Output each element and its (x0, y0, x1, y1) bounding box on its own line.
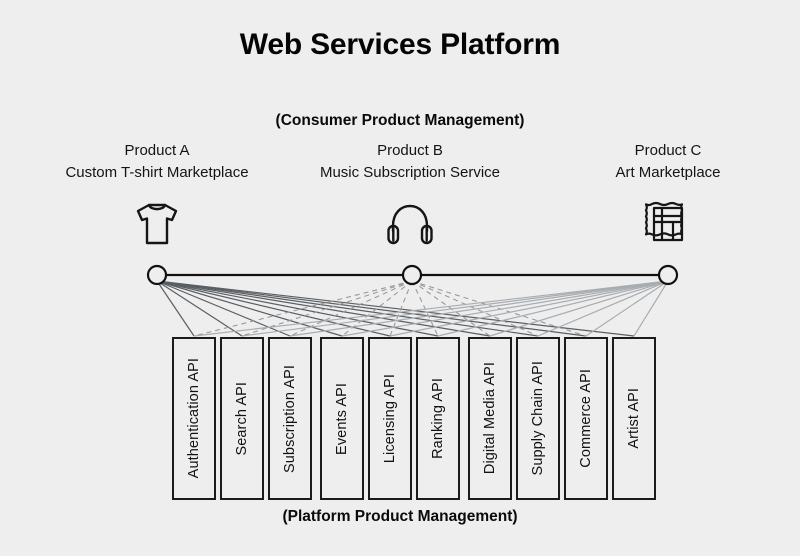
api-box-inner: Commerce API (566, 339, 606, 498)
link-product-a-to-search-api (157, 281, 242, 336)
link-product-b-to-digital-media-api (412, 281, 490, 336)
product-c-name: Product C (528, 140, 800, 162)
link-product-a-to-licensing-api (157, 281, 390, 336)
api-box-ranking-api[interactable]: Ranking API (416, 337, 460, 500)
link-product-c-to-supply-chain-api (538, 281, 668, 336)
api-label-commerce-api: Commerce API (578, 369, 594, 468)
api-label-events-api: Events API (334, 383, 350, 455)
product-a-description: Custom T-shirt Marketplace (17, 162, 297, 184)
api-label-ranking-api: Ranking API (430, 378, 446, 459)
link-product-b-to-supply-chain-api (412, 281, 538, 336)
consumer-layer-caption: (Consumer Product Management) (0, 112, 800, 130)
api-box-events-api[interactable]: Events API (320, 337, 364, 500)
api-label-authentication-api: Authentication API (186, 358, 202, 478)
tshirt-icon (125, 198, 189, 250)
product-b-label-group: Product B Music Subscription Service (270, 140, 550, 184)
link-product-c-to-ranking-api (438, 281, 668, 336)
api-label-artist-api: Artist API (626, 388, 642, 449)
link-product-b-to-authentication-api (194, 281, 412, 336)
api-box-inner: Search API (222, 339, 262, 498)
product-b-name: Product B (270, 140, 550, 162)
link-product-c-to-events-api (342, 281, 668, 336)
api-box-licensing-api[interactable]: Licensing API (368, 337, 412, 500)
link-product-c-to-search-api (242, 281, 668, 336)
link-product-b-to-events-api (342, 281, 412, 336)
api-box-inner: Subscription API (270, 339, 310, 498)
link-product-c-to-authentication-api (194, 281, 668, 336)
api-box-inner: Ranking API (418, 339, 458, 498)
api-label-subscription-api: Subscription API (282, 365, 298, 473)
api-box-inner: Digital Media API (470, 339, 510, 498)
headphones-icon (378, 198, 442, 250)
link-product-a-to-subscription-api (157, 281, 290, 336)
link-product-c-to-licensing-api (390, 281, 668, 336)
api-box-digital-media-api[interactable]: Digital Media API (468, 337, 512, 500)
platform-layer-caption: (Platform Product Management) (0, 508, 800, 526)
product-c-label-group: Product C Art Marketplace (528, 140, 800, 184)
link-product-a-to-events-api (157, 281, 342, 336)
product-b-description: Music Subscription Service (270, 162, 550, 184)
diagram-canvas: Web Services Platform (Consumer Product … (0, 0, 800, 556)
link-product-a-to-ranking-api (157, 281, 438, 336)
link-product-a-to-commerce-api (157, 281, 586, 336)
link-product-b-to-subscription-api (290, 281, 412, 336)
link-product-b-to-ranking-api (412, 281, 438, 336)
link-product-c-to-subscription-api (290, 281, 668, 336)
api-box-search-api[interactable]: Search API (220, 337, 264, 500)
product-c-description: Art Marketplace (528, 162, 800, 184)
bus-node-product-c[interactable] (659, 266, 677, 284)
link-product-a-to-supply-chain-api (157, 281, 538, 336)
link-product-c-to-commerce-api (586, 281, 668, 336)
api-label-digital-media-api: Digital Media API (482, 362, 498, 474)
product-a-name: Product A (17, 140, 297, 162)
api-label-supply-chain-api: Supply Chain API (530, 361, 546, 475)
link-product-a-to-authentication-api (157, 281, 194, 336)
page-title: Web Services Platform (0, 28, 800, 62)
link-product-b-to-search-api (242, 281, 412, 336)
api-box-artist-api[interactable]: Artist API (612, 337, 656, 500)
art-frame-icon (636, 198, 700, 250)
link-product-a-to-artist-api (157, 281, 634, 336)
api-label-licensing-api: Licensing API (382, 374, 398, 463)
link-product-c-to-artist-api (634, 281, 668, 336)
product-a-label-group: Product A Custom T-shirt Marketplace (17, 140, 297, 184)
api-box-subscription-api[interactable]: Subscription API (268, 337, 312, 500)
api-box-supply-chain-api[interactable]: Supply Chain API (516, 337, 560, 500)
bus-node-product-b[interactable] (403, 266, 421, 284)
api-box-authentication-api[interactable]: Authentication API (172, 337, 216, 500)
api-box-inner: Licensing API (370, 339, 410, 498)
api-label-search-api: Search API (234, 382, 250, 456)
api-box-inner: Authentication API (174, 339, 214, 498)
api-box-inner: Artist API (614, 339, 654, 498)
link-product-a-to-digital-media-api (157, 281, 490, 336)
api-box-inner: Supply Chain API (518, 339, 558, 498)
link-product-b-to-licensing-api (390, 281, 412, 336)
api-box-commerce-api[interactable]: Commerce API (564, 337, 608, 500)
link-product-b-to-commerce-api (412, 281, 586, 336)
bus-node-product-a[interactable] (148, 266, 166, 284)
link-product-c-to-digital-media-api (490, 281, 668, 336)
api-box-inner: Events API (322, 339, 362, 498)
